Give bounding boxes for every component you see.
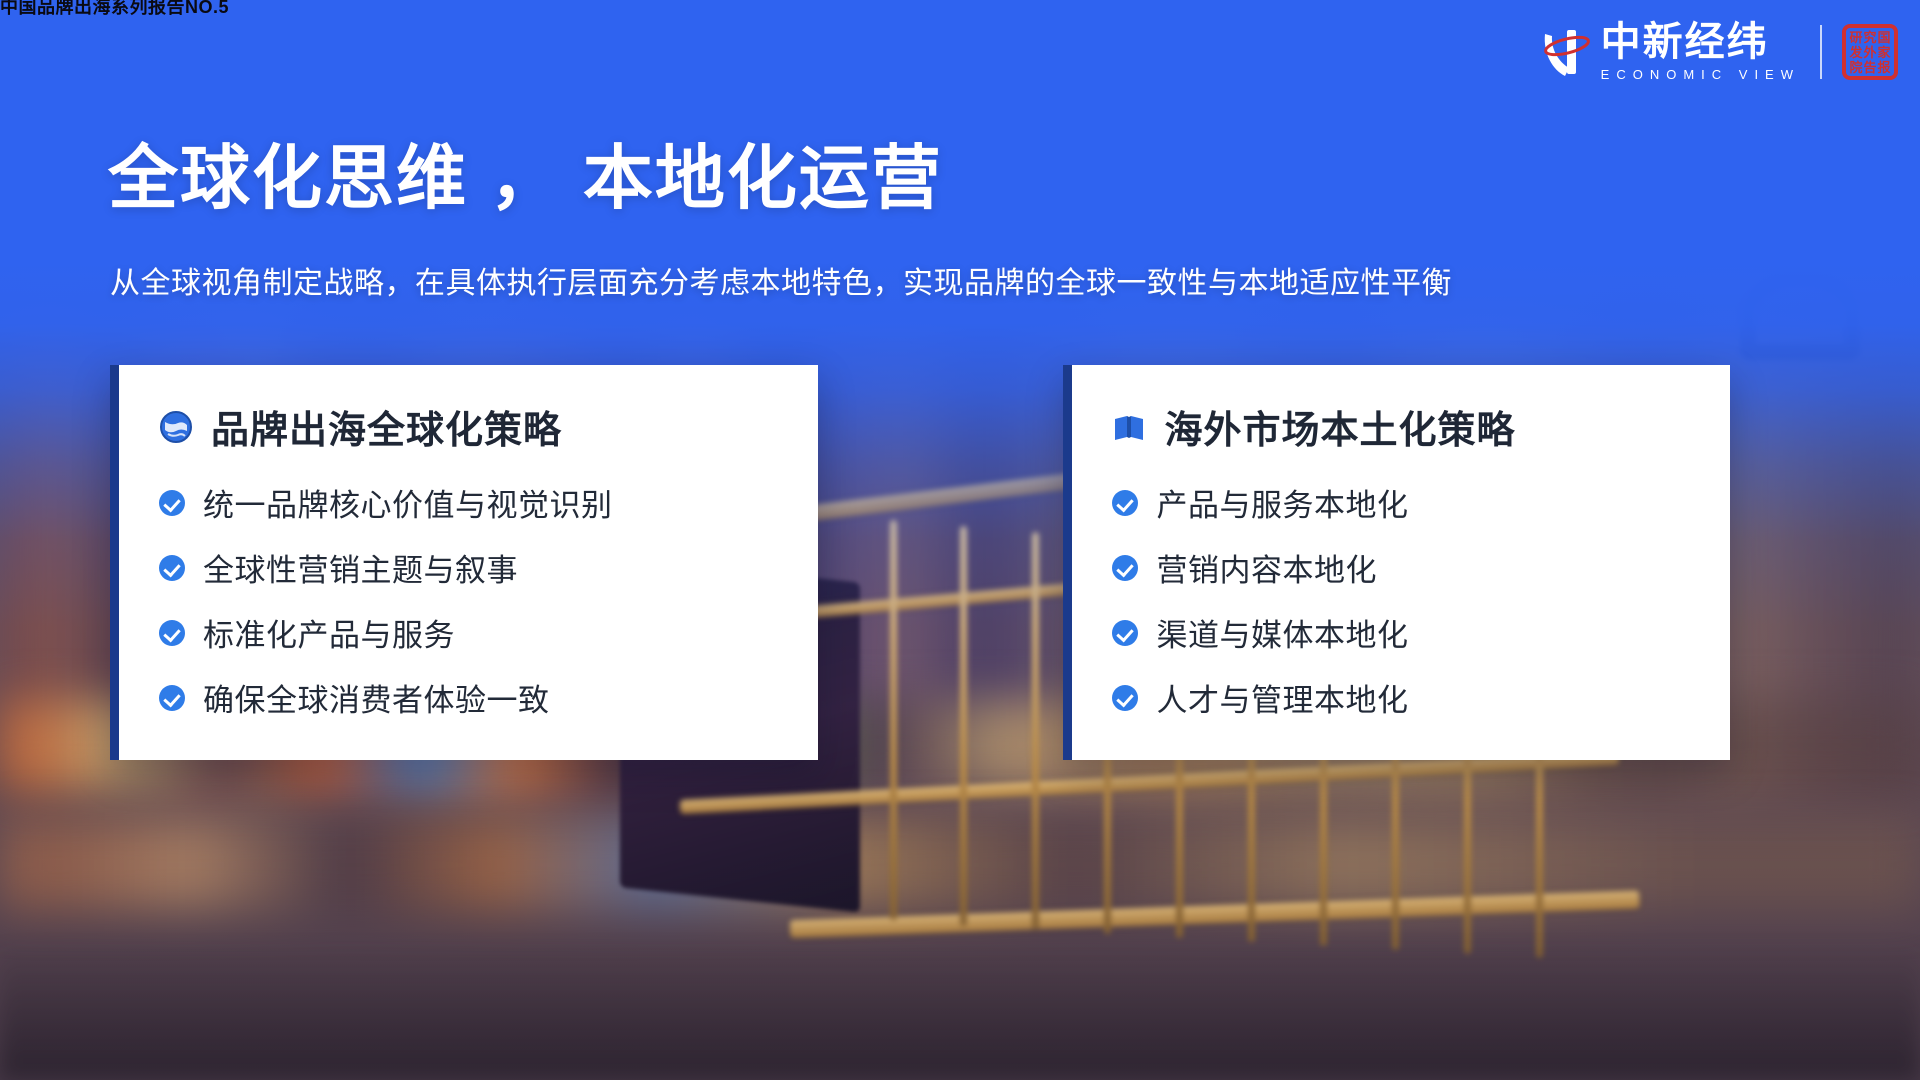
list-item: 标准化产品与服务 (159, 610, 778, 655)
seal-char: 发 (1849, 46, 1863, 61)
card-globalization: 品牌出海全球化策略 统一品牌核心价值与视觉识别 全球性营销主题与叙事 标准化产品… (110, 365, 818, 760)
brand-name-cn: 中新经纬 (1601, 22, 1800, 62)
list-item: 人才与管理本地化 (1112, 675, 1690, 720)
list-item-label: 统一品牌核心价值与视觉识别 (203, 480, 613, 525)
seal-char: 告 (1863, 61, 1877, 76)
list-item-label: 全球性营销主题与叙事 (203, 545, 518, 590)
list-item-label: 渠道与媒体本地化 (1156, 610, 1408, 655)
card-bullet-list: 产品与服务本地化 营销内容本地化 渠道与媒体本地化 人才与管理本地化 (1112, 480, 1690, 720)
seal-char: 外 (1863, 46, 1877, 61)
brand-divider (1820, 25, 1822, 79)
check-circle-icon (1112, 620, 1138, 646)
page-title: 全球化思维 ， 本地化运营 (108, 122, 943, 223)
red-seal-stamp: 研 究 国 发 外 家 院 告 报 (1842, 24, 1898, 80)
globe-icon (159, 410, 193, 444)
card-bullet-list: 统一品牌核心价值与视觉识别 全球性营销主题与叙事 标准化产品与服务 确保全球消费… (159, 480, 778, 720)
list-item-label: 确保全球消费者体验一致 (203, 675, 550, 720)
check-circle-icon (159, 620, 185, 646)
seal-char: 国 (1877, 31, 1891, 46)
list-item: 全球性营销主题与叙事 (159, 545, 778, 590)
seal-char: 研 (1849, 31, 1863, 46)
check-circle-icon (1112, 490, 1138, 516)
slide-content: 中国品牌出海系列报告NO.5 中新经纬 ECONOMIC VIEW 研 究 国 … (0, 0, 1920, 1080)
seal-char: 究 (1863, 31, 1877, 46)
check-circle-icon (159, 555, 185, 581)
card-header: 海外市场本土化策略 (1112, 399, 1690, 454)
page-subtitle: 从全球视角制定战略，在具体执行层面充分考虑本地特色，实现品牌的全球一致性与本地适… (110, 258, 1452, 302)
brand-text: 中新经纬 ECONOMIC VIEW (1601, 22, 1800, 81)
card-header: 品牌出海全球化策略 (159, 399, 778, 454)
list-item: 营销内容本地化 (1112, 545, 1690, 590)
report-series-kicker: 中国品牌出海系列报告NO.5 (0, 0, 229, 19)
seal-char: 报 (1877, 61, 1891, 76)
seal-char: 家 (1877, 46, 1891, 61)
list-item-label: 标准化产品与服务 (203, 610, 455, 655)
brand-mark-icon (1539, 24, 1591, 80)
list-item-label: 产品与服务本地化 (1156, 480, 1408, 525)
list-item-label: 人才与管理本地化 (1156, 675, 1408, 720)
brand-logo: 中新经纬 ECONOMIC VIEW (1539, 22, 1800, 81)
open-book-icon (1112, 410, 1146, 444)
check-circle-icon (159, 490, 185, 516)
seal-char: 院 (1849, 61, 1863, 76)
list-item: 统一品牌核心价值与视觉识别 (159, 480, 778, 525)
check-circle-icon (1112, 555, 1138, 581)
strategy-cards: 品牌出海全球化策略 统一品牌核心价值与视觉识别 全球性营销主题与叙事 标准化产品… (110, 365, 1730, 760)
check-circle-icon (159, 685, 185, 711)
brand-lockup: 中新经纬 ECONOMIC VIEW 研 究 国 发 外 家 院 告 报 (1539, 22, 1898, 81)
list-item: 产品与服务本地化 (1112, 480, 1690, 525)
check-circle-icon (1112, 685, 1138, 711)
card-localization: 海外市场本土化策略 产品与服务本地化 营销内容本地化 渠道与媒体本地化 人才与 (1063, 365, 1730, 760)
list-item: 确保全球消费者体验一致 (159, 675, 778, 720)
card-title: 品牌出海全球化策略 (211, 399, 562, 454)
list-item-label: 营销内容本地化 (1156, 545, 1377, 590)
list-item: 渠道与媒体本地化 (1112, 610, 1690, 655)
brand-name-en: ECONOMIC VIEW (1601, 68, 1800, 81)
card-title: 海外市场本土化策略 (1164, 399, 1515, 454)
